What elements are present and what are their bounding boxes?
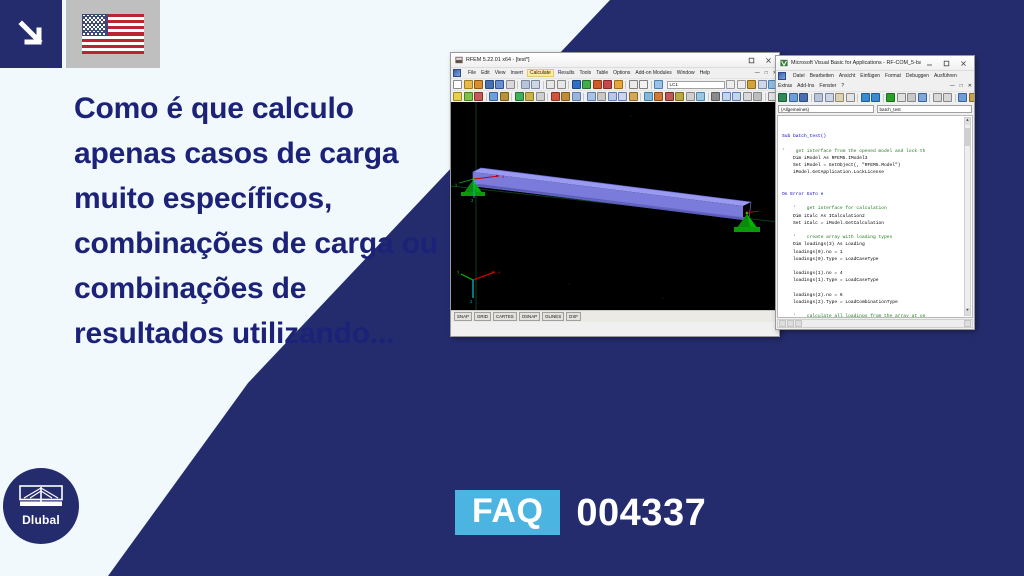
vba-menu-ansicht[interactable]: Ansicht	[839, 73, 855, 79]
save-icon[interactable]	[495, 80, 504, 89]
code-line: ' create array with loading types	[782, 234, 970, 241]
svg-text:x: x	[498, 270, 501, 275]
vba-window-controls[interactable]	[921, 57, 972, 70]
menu-item-view[interactable]: View	[495, 70, 506, 76]
svg-text:y: y	[457, 269, 460, 274]
layer-icon[interactable]	[665, 92, 674, 101]
menu-item-insert[interactable]: Insert	[510, 70, 523, 76]
nodal-load-icon[interactable]	[551, 92, 560, 101]
properties-window-icon[interactable]	[943, 93, 952, 102]
menu-item-results[interactable]: Results	[558, 70, 575, 76]
pause-macro-icon[interactable]	[897, 93, 906, 102]
vba-menu-fenster[interactable]: Fenster	[819, 83, 836, 89]
page-title: Como é que calculo apenas casos de carga…	[74, 86, 444, 356]
vba-code-horizontal-scrollbar[interactable]	[777, 319, 973, 328]
render-icon[interactable]	[614, 80, 623, 89]
vba-menu-addins[interactable]: Add-Ins	[797, 83, 814, 89]
vba-mdi-close-button[interactable]: ✕	[968, 83, 972, 89]
surface-load-icon[interactable]	[572, 92, 581, 101]
code-line: Dim iModel As RFEM5.IModel3	[782, 155, 970, 162]
insert-module-icon[interactable]	[789, 93, 798, 102]
code-line: Dim iCalc As ICalculation2	[782, 213, 970, 220]
project-explorer-icon[interactable]	[933, 93, 942, 102]
calculate-icon[interactable]	[572, 80, 581, 89]
redo-icon[interactable]	[871, 93, 880, 102]
design-mode-icon[interactable]	[918, 93, 927, 102]
code-line: ' get interface from the opened model an…	[782, 148, 970, 155]
surface-tool-icon[interactable]	[489, 92, 498, 101]
member-tool-icon[interactable]	[474, 92, 483, 101]
menu-item-file[interactable]: File	[468, 70, 476, 76]
dlubal-bridge-icon	[19, 485, 63, 511]
status-tab-cartes[interactable]: CARTES	[493, 312, 517, 321]
vba-menubar-row-2[interactable]: Extras Add-Ins Fenster ? — □ ✕	[776, 81, 974, 91]
flag-star	[87, 33, 89, 35]
rfem-menubar[interactable]: File Edit View Insert Calculate Results …	[451, 68, 779, 78]
menu-item-table[interactable]: Table	[596, 70, 608, 76]
vba-menu-help[interactable]: ?	[841, 83, 844, 89]
navigator-icon[interactable]	[654, 80, 663, 89]
cut-icon[interactable]	[521, 80, 530, 89]
status-tab-dxf[interactable]: DXF	[566, 312, 581, 321]
flag-star	[103, 15, 105, 17]
move-icon[interactable]	[587, 92, 596, 101]
full-module-view-icon[interactable]	[779, 320, 786, 327]
vba-menu-format[interactable]: Format	[885, 73, 901, 79]
dlubal-wordmark: Dlubal	[22, 513, 60, 527]
us-flag-icon	[82, 14, 144, 54]
rfem-minimize-button[interactable]: minimize	[726, 54, 743, 67]
deformation-icon[interactable]	[593, 80, 602, 89]
prev-case-icon[interactable]	[726, 80, 735, 89]
vba-mdi-restore-button[interactable]: □	[960, 83, 963, 89]
flag-star	[103, 28, 105, 30]
select-node-icon[interactable]	[453, 92, 462, 101]
status-tab-snap[interactable]: SNAP	[454, 312, 472, 321]
vba-editor-window[interactable]: Microsoft Visual Basic for Applications …	[775, 55, 975, 330]
annotation-icon[interactable]	[654, 92, 663, 101]
rfem-mdi-minimize-button[interactable]: —	[755, 70, 760, 76]
vba-menubar-row-1[interactable]: Datei Bearbeiten Ansicht Einfügen Format…	[776, 71, 974, 81]
solid-tool-icon[interactable]	[500, 92, 509, 101]
structural-model-graphic: x z y x z y	[451, 102, 779, 310]
code-line: On Error GoTo e	[782, 191, 970, 198]
rfem-status-bar[interactable]: SNAP GRID CARTES OSNAP GLINES DXF	[451, 310, 779, 322]
zoom-in-icon[interactable]	[722, 92, 731, 101]
group-icon[interactable]	[675, 92, 684, 101]
code-line	[782, 184, 970, 191]
mirror-icon[interactable]	[608, 92, 617, 101]
code-line: loadings(0).Type = LoadCaseType	[782, 256, 970, 263]
status-tab-osnap[interactable]: OSNAP	[519, 312, 540, 321]
zoom-all-icon[interactable]	[743, 92, 752, 101]
view-excel-icon[interactable]	[778, 93, 787, 102]
hinge-tool-icon[interactable]	[525, 92, 534, 101]
vba-toolbar[interactable]	[776, 91, 974, 103]
vba-menu-bearbeiten[interactable]: Bearbeiten	[810, 73, 834, 79]
code-line	[782, 263, 970, 270]
object-combobox[interactable]: (Allgemeines)	[778, 105, 874, 113]
support-tool-icon[interactable]	[515, 92, 524, 101]
code-line: Dim loadings(3) As Loading	[782, 241, 970, 248]
code-line	[782, 177, 970, 184]
print-icon[interactable]	[506, 80, 515, 89]
vba-mdi-minimize-button[interactable]: —	[950, 83, 955, 89]
flag-star	[83, 33, 85, 35]
menu-item-addon-modules[interactable]: Add-on Modules	[635, 70, 671, 76]
code-line: loadings(2).no = 6	[782, 292, 970, 299]
code-line	[782, 285, 970, 292]
zoom-out-icon[interactable]	[732, 92, 741, 101]
flag-star	[103, 19, 105, 21]
rfem-maximize-button[interactable]	[743, 54, 760, 67]
vba-system-menu-icon[interactable]	[778, 72, 786, 80]
rfem-system-menu-icon[interactable]	[453, 69, 461, 77]
menu-item-tools[interactable]: Tools	[580, 70, 592, 76]
code-line: Set iCalc = iModel.GetCalculation	[782, 220, 970, 227]
scroll-up-arrow-icon[interactable]: ▲	[965, 118, 970, 125]
extrude-icon[interactable]	[629, 92, 638, 101]
code-line	[782, 306, 970, 313]
language-flag-badge[interactable]	[66, 0, 160, 68]
rfem-3d-viewport[interactable]: x z y x z y	[451, 102, 779, 310]
code-line: loadings(0).no = 1	[782, 249, 970, 256]
arrow-down-right-icon	[14, 17, 48, 51]
status-tab-glines[interactable]: GLINES	[542, 312, 564, 321]
code-line	[782, 198, 970, 205]
faq-number: 004337	[576, 494, 706, 532]
code-line: loadings(1).no = 4	[782, 270, 970, 277]
vba-close-button[interactable]	[955, 57, 972, 70]
dimension-icon[interactable]	[644, 92, 653, 101]
undo-icon[interactable]	[861, 93, 870, 102]
vba-minimize-button[interactable]	[921, 57, 938, 70]
procedure-view-icon[interactable]	[787, 320, 794, 327]
status-tab-grid[interactable]: GRID	[474, 312, 491, 321]
paste-icon[interactable]	[835, 93, 844, 102]
vba-title-text: Microsoft Visual Basic for Applications …	[791, 60, 921, 66]
rfem-title-text: RFEM 5.22.01 x64 - [test*]	[466, 57, 726, 63]
menu-item-options[interactable]: Options	[613, 70, 630, 76]
code-line	[782, 141, 970, 148]
open-recent-icon[interactable]	[474, 80, 483, 89]
object-browser-icon[interactable]	[958, 93, 967, 102]
vba-code-text: Sub batch_test() ' get interface from th…	[782, 133, 970, 318]
code-line: ' calculate all loadings from the array …	[782, 313, 970, 318]
vba-menu-datei[interactable]: Datei	[793, 73, 805, 79]
stop-macro-icon[interactable]	[907, 93, 916, 102]
vba-code-vertical-scrollbar[interactable]: ▲ ▼	[964, 117, 971, 316]
code-line: loadings(1).Type = LoadCaseType	[782, 277, 970, 284]
rfem-toolbar-row-1[interactable]: LC1	[451, 78, 779, 90]
visibility-icon[interactable]	[686, 92, 695, 101]
vba-maximize-button[interactable]	[938, 57, 955, 70]
rfem-titlebar[interactable]: RFEM 5.22.01 x64 - [test*] minimize	[451, 53, 779, 68]
flag-star	[103, 33, 105, 35]
vba-code-editor[interactable]: Sub batch_test() ' get interface from th…	[777, 115, 973, 318]
print-preview-icon[interactable]	[485, 80, 494, 89]
rfem-mdi-restore-button[interactable]: □	[765, 70, 768, 76]
pan-icon[interactable]	[753, 92, 762, 101]
table-icon[interactable]	[629, 80, 638, 89]
find-icon[interactable]	[846, 93, 855, 102]
scroll-left-arrow-icon[interactable]	[795, 320, 802, 327]
code-line: loadings(2).Type = LoadCombinationType	[782, 299, 970, 306]
menu-item-calculate[interactable]: Calculate	[528, 70, 553, 76]
slide-canvas: Como é que calculo apenas casos de carga…	[0, 0, 1024, 576]
grid-icon[interactable]	[639, 80, 648, 89]
svg-text:z: z	[470, 299, 473, 304]
next-case-icon[interactable]	[737, 80, 746, 89]
copy-icon[interactable]	[825, 93, 834, 102]
loads-icon[interactable]	[603, 80, 612, 89]
vba-menu-ausfuehren[interactable]: Ausführen	[934, 73, 957, 79]
toolbox-icon[interactable]	[969, 93, 975, 102]
scroll-right-arrow-icon[interactable]	[964, 320, 971, 327]
menu-item-help[interactable]: Help	[700, 70, 710, 76]
code-line: iModel.GetApplication.LockLicense	[782, 169, 970, 176]
rfem-window[interactable]: RFEM 5.22.01 x64 - [test*] minimize File…	[450, 52, 780, 337]
undo-icon[interactable]	[546, 80, 555, 89]
svg-text:z: z	[471, 198, 474, 203]
flag-star	[95, 33, 97, 35]
flag-star	[91, 33, 93, 35]
cut-icon[interactable]	[814, 93, 823, 102]
faq-label-chip: FAQ	[455, 490, 560, 535]
edit-case-icon[interactable]	[747, 80, 756, 89]
vba-titlebar[interactable]: Microsoft Visual Basic for Applications …	[776, 56, 974, 71]
results-icon[interactable]	[582, 80, 591, 89]
flag-star	[99, 33, 101, 35]
rotate-icon[interactable]	[597, 92, 606, 101]
section-tool-icon[interactable]	[536, 92, 545, 101]
code-line: Set iModel = GetObject(, "RFEM5.Model")	[782, 162, 970, 169]
vba-menu-einfuegen[interactable]: Einfügen	[860, 73, 880, 79]
new-file-icon[interactable]	[453, 80, 462, 89]
run-macro-icon[interactable]	[886, 93, 895, 102]
rfem-app-icon	[455, 56, 463, 64]
zoom-window-icon[interactable]	[711, 92, 720, 101]
arrow-badge[interactable]	[0, 0, 62, 68]
open-file-icon[interactable]	[464, 80, 473, 89]
load-case-combobox[interactable]: LC1	[667, 81, 725, 89]
rfem-window-controls[interactable]: minimize	[726, 54, 777, 67]
code-line: ' get interface for calculation	[782, 205, 970, 212]
procedure-combobox[interactable]: batch_test	[877, 105, 973, 113]
code-line	[782, 227, 970, 234]
array-icon[interactable]	[618, 92, 627, 101]
vba-code-selectors[interactable]: (Allgemeines) batch_test	[776, 103, 974, 114]
line-tool-icon[interactable]	[464, 92, 473, 101]
filter-icon[interactable]	[696, 92, 705, 101]
rfem-toolbar-row-2[interactable]	[451, 90, 779, 102]
menu-item-edit[interactable]: Edit	[481, 70, 490, 76]
copy-icon[interactable]	[531, 80, 540, 89]
vba-menu-debuggen[interactable]: Debuggen	[906, 73, 929, 79]
faq-badge-row: FAQ 004337	[455, 490, 706, 535]
code-line: Sub batch_test()	[782, 133, 970, 140]
flag-star	[103, 24, 105, 26]
new-case-icon[interactable]	[758, 80, 767, 89]
scroll-down-arrow-icon[interactable]: ▼	[965, 308, 970, 315]
vba-scroll-thumb[interactable]	[965, 128, 970, 146]
redo-icon[interactable]	[557, 80, 566, 89]
line-load-icon[interactable]	[561, 92, 570, 101]
dlubal-logo[interactable]: Dlubal	[3, 468, 79, 544]
vba-menu-extras[interactable]: Extras	[778, 83, 792, 89]
save-project-icon[interactable]	[799, 93, 808, 102]
menu-item-window[interactable]: Window	[677, 70, 695, 76]
vba-app-icon	[780, 59, 788, 67]
